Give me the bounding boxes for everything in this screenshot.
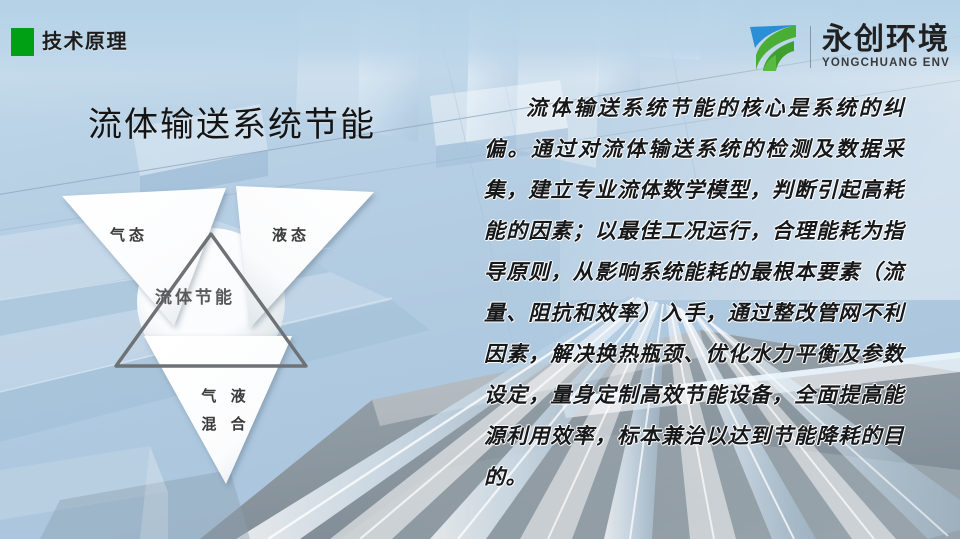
fluid-energy-saving-triangle-diagram[interactable]: 气态 液态 气 液 混 合 流体节能: [44, 178, 404, 498]
section-marker-square: [11, 28, 34, 56]
presentation-slide: 技术原理 永创环境 YONGCHUANG ENV: [0, 0, 960, 539]
company-logo[interactable]: 永创环境 YONGCHUANG ENV: [746, 20, 950, 74]
body-paragraph: 流体输送系统节能的核心是系统的纠偏。通过对流体输送系统的检测及数据采集，建立专业…: [484, 88, 904, 498]
section-label: 技术原理: [42, 29, 128, 55]
triangle-center-label: 流体节能: [155, 283, 235, 308]
yongchuang-leaf-logo-icon: [746, 21, 806, 73]
logo-name-en: YONGCHUANG ENV: [822, 57, 950, 70]
triangle-label-mixed-line1: 气 液: [191, 383, 261, 411]
triangle-label-mixed-line2: 混 合: [191, 411, 261, 439]
slide-header: 技术原理 永创环境 YONGCHUANG ENV: [0, 0, 960, 78]
slide-title: 流体输送系统节能: [88, 103, 376, 147]
triangle-label-mixed: 气 液 混 合: [191, 383, 261, 439]
logo-name-cn: 永创环境: [822, 24, 950, 56]
triangle-label-liquid: 液态: [272, 224, 310, 245]
triangle-label-gas: 气态: [110, 224, 148, 245]
logo-divider: [810, 26, 811, 68]
